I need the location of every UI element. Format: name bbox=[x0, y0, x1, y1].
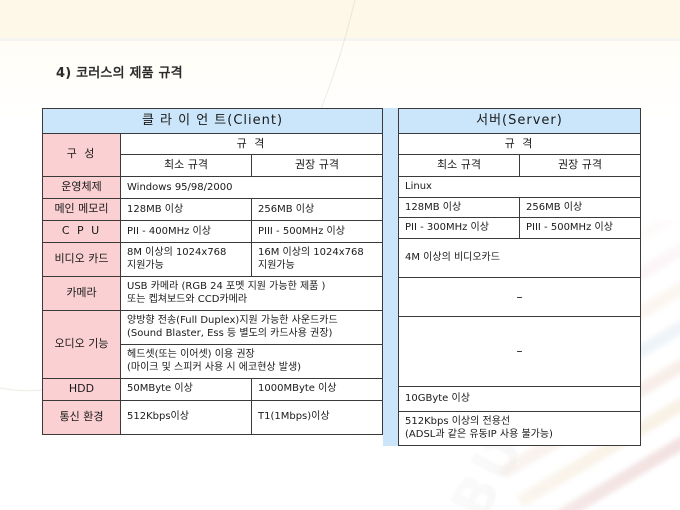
client-audio-line-1: 양방향 전송(Full Duplex)지원 가능한 사운드카드 (Sound B… bbox=[121, 310, 383, 344]
table-row: 10GByte 이상 bbox=[399, 386, 641, 411]
client-row-value-min: 128MB 이상 bbox=[121, 199, 252, 221]
client-row-value-rec: T1(1Mbps)이상 bbox=[252, 400, 383, 434]
server-header-row-1: 규 격 bbox=[399, 133, 641, 155]
server-row-value-rec: PIII - 500MHz 이상 bbox=[520, 218, 641, 239]
table-row: 카메라 USB 카메라 (RGB 24 포멧 지원 가능한 제품 ) 또는 켑쳐… bbox=[43, 276, 383, 310]
table-row: 메인 메모리 128MB 이상 256MB 이상 bbox=[43, 199, 383, 221]
client-col-recommended-header: 권장 규격 bbox=[252, 155, 383, 177]
table-row: – bbox=[399, 277, 641, 316]
client-row-value-min: Windows 95/98/2000 bbox=[121, 177, 383, 199]
server-row-value-min: PII - 300MHz 이상 bbox=[399, 218, 520, 239]
client-row-value-min: USB 카메라 (RGB 24 포멧 지원 가능한 제품 ) 또는 켑쳐보드와 … bbox=[121, 276, 383, 310]
table-row: 오디오 기능 양방향 전송(Full Duplex)지원 가능한 사운드카드 (… bbox=[43, 310, 383, 344]
table-separator-band bbox=[383, 108, 398, 446]
table-row: C P U PII - 400MHz 이상 PIII - 500MHz 이상 bbox=[43, 220, 383, 242]
server-col-recommended-header: 권장 규격 bbox=[520, 155, 641, 177]
server-row-value-dash: – bbox=[399, 277, 641, 316]
client-row-label: 카메라 bbox=[43, 276, 121, 310]
server-header-row-2: 최소 규격 권장 규격 bbox=[399, 155, 641, 177]
server-table-title: 서버(Server) bbox=[399, 109, 641, 134]
server-title-row: 서버(Server) bbox=[399, 109, 641, 134]
client-row-label: 비디오 카드 bbox=[43, 242, 121, 276]
server-spec-header: 규 격 bbox=[399, 133, 641, 155]
client-audio-line-2: 헤드셋(또는 이어셋) 이용 권장 (마이크 및 스피커 사용 시 에코현상 발… bbox=[121, 344, 383, 378]
server-row-value-min: 128MB 이상 bbox=[399, 197, 520, 218]
client-row-label: 운영체제 bbox=[43, 177, 121, 199]
table-row: – bbox=[399, 316, 641, 386]
table-row: 비디오 카드 8M 이상의 1024x768 지원가능 16M 이상의 1024… bbox=[43, 242, 383, 276]
client-config-header: 구 성 bbox=[43, 133, 121, 177]
client-row-value-min: 512Kbps이상 bbox=[121, 400, 252, 434]
client-col-min-header: 최소 규격 bbox=[121, 155, 252, 177]
table-row: 4M 이상의 비디오카드 bbox=[399, 238, 641, 277]
table-row: 운영체제 Windows 95/98/2000 bbox=[43, 177, 383, 199]
client-row-label: HDD bbox=[43, 378, 121, 400]
page-title: 4) 코러스의 제품 규격 bbox=[56, 62, 183, 81]
server-col-min-header: 최소 규격 bbox=[399, 155, 520, 177]
table-row: HDD 50MByte 이상 1000MByte 이상 bbox=[43, 378, 383, 400]
table-row: 512Kbps 이상의 전용선 (ADSL과 같은 유동IP 사용 불가능) bbox=[399, 411, 641, 445]
spec-tables-container: 클 라 이 언 트(Client) 구 성 규 격 최소 규격 권장 규격 운영… bbox=[42, 108, 641, 446]
table-row: 통신 환경 512Kbps이상 T1(1Mbps)이상 bbox=[43, 400, 383, 434]
client-row-label: 통신 환경 bbox=[43, 400, 121, 434]
server-row-value: 10GByte 이상 bbox=[399, 386, 641, 411]
client-row-value-rec: 1000MByte 이상 bbox=[252, 378, 383, 400]
client-spec-table: 클 라 이 언 트(Client) 구 성 규 격 최소 규격 권장 규격 운영… bbox=[42, 108, 383, 435]
client-row-value-rec: PIII - 500MHz 이상 bbox=[252, 220, 383, 242]
client-row-value-rec: 256MB 이상 bbox=[252, 199, 383, 221]
client-title-row: 클 라 이 언 트(Client) bbox=[43, 109, 383, 134]
client-row-value-min: PII - 400MHz 이상 bbox=[121, 220, 252, 242]
server-spec-table: 서버(Server) 규 격 최소 규격 권장 규격 Linux 128MB 이… bbox=[398, 108, 641, 446]
table-row: Linux bbox=[399, 177, 641, 198]
client-row-value-min: 50MByte 이상 bbox=[121, 378, 252, 400]
client-header-row-1: 구 성 규 격 bbox=[43, 133, 383, 155]
server-row-value-rec: 256MB 이상 bbox=[520, 197, 641, 218]
client-row-value-min: 8M 이상의 1024x768 지원가능 bbox=[121, 242, 252, 276]
client-row-label: 메인 메모리 bbox=[43, 199, 121, 221]
client-row-label: 오디오 기능 bbox=[43, 310, 121, 378]
client-row-value-rec: 16M 이상의 1024x768 지원가능 bbox=[252, 242, 383, 276]
client-row-label: C P U bbox=[43, 220, 121, 242]
server-row-value: Linux bbox=[399, 177, 641, 198]
client-table-title: 클 라 이 언 트(Client) bbox=[43, 109, 383, 134]
server-row-value: 512Kbps 이상의 전용선 (ADSL과 같은 유동IP 사용 불가능) bbox=[399, 411, 641, 445]
table-row: PII - 300MHz 이상 PIII - 500MHz 이상 bbox=[399, 218, 641, 239]
server-row-value: 4M 이상의 비디오카드 bbox=[399, 238, 641, 277]
client-spec-header: 규 격 bbox=[121, 133, 383, 155]
table-row: 128MB 이상 256MB 이상 bbox=[399, 197, 641, 218]
server-row-value-dash: – bbox=[399, 316, 641, 386]
